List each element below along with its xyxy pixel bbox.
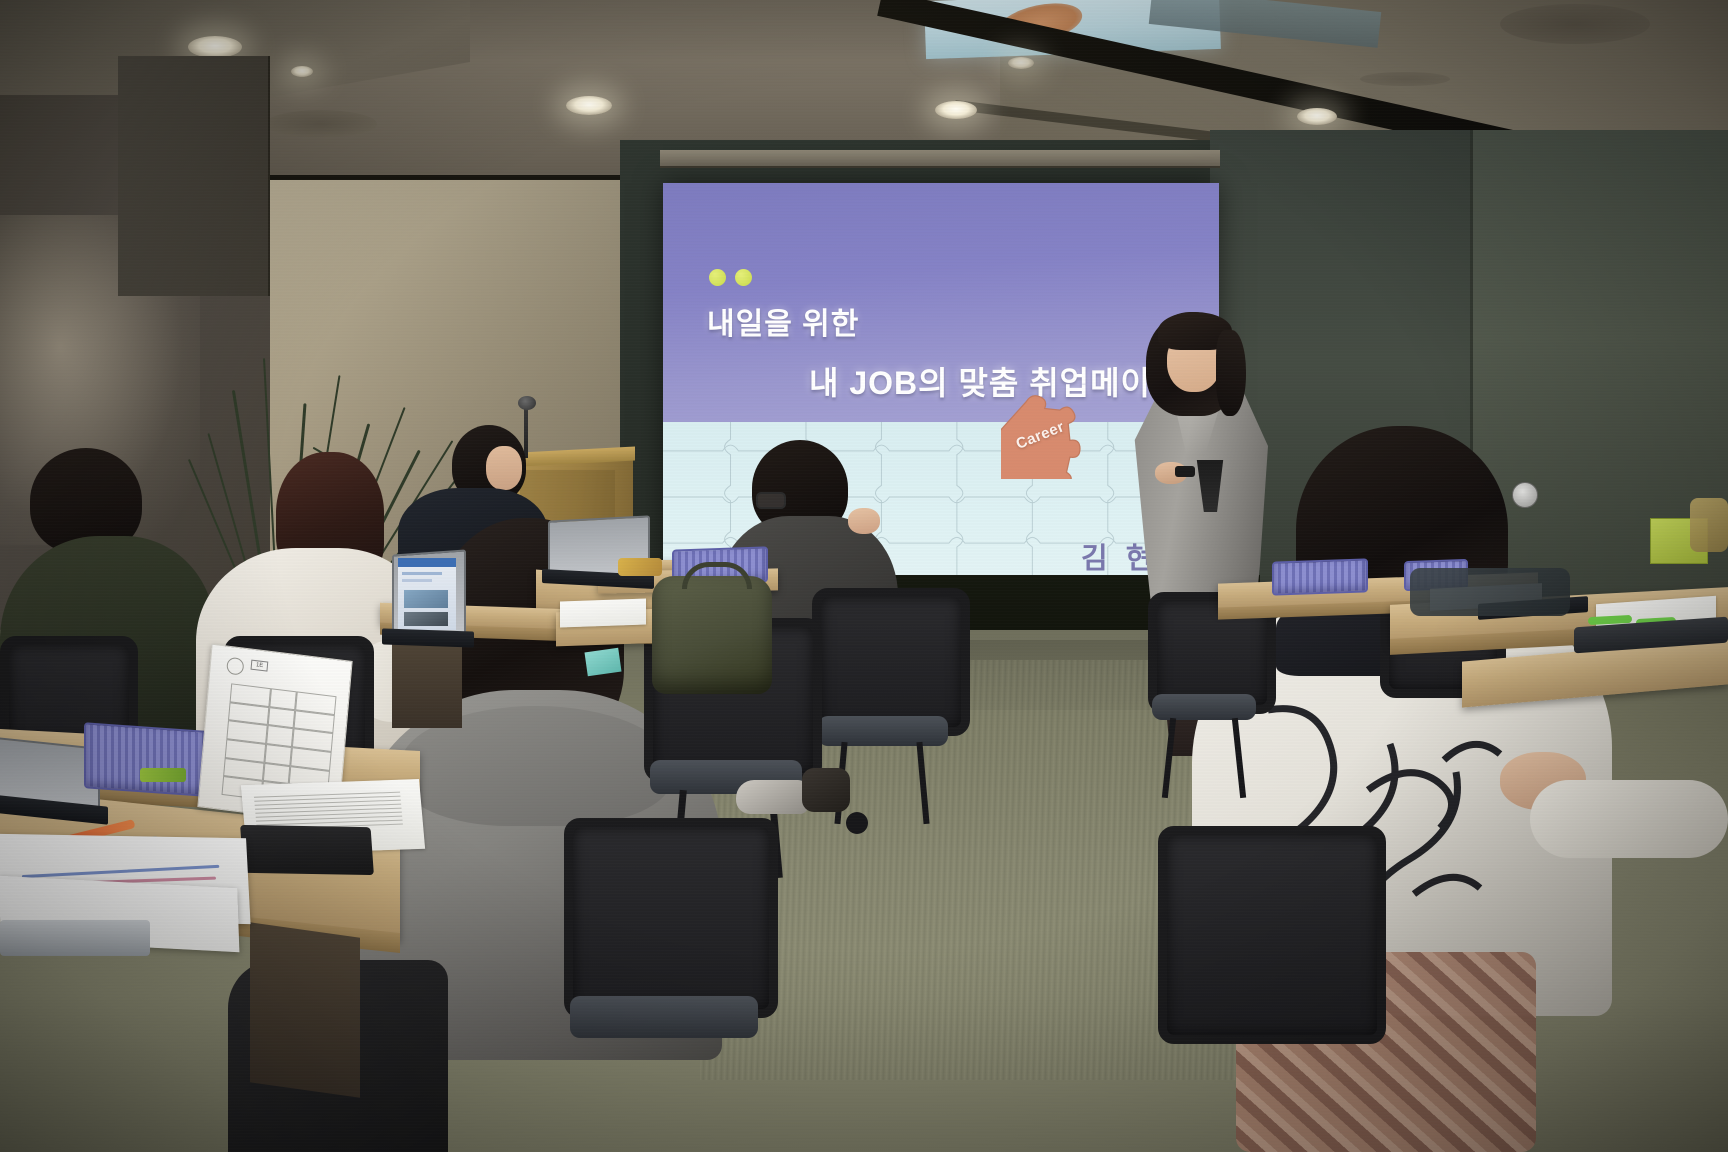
dark-bag — [1410, 568, 1570, 616]
chair-seat[interactable] — [1152, 694, 1256, 720]
attendee-forearm — [1530, 780, 1728, 858]
slide-title-line-1: 내일을 위한 — [707, 299, 859, 343]
handout-badge: 1E — [251, 660, 269, 672]
microphone-icon — [518, 396, 536, 410]
laptop-keyboard[interactable] — [382, 628, 474, 647]
downlight-icon — [1008, 57, 1034, 69]
slide-bullet-dot-icon — [709, 269, 726, 286]
mousepad[interactable] — [240, 825, 374, 875]
chair-seat[interactable] — [570, 996, 758, 1038]
chair-caster — [846, 812, 868, 834]
ceiling-vent — [1500, 4, 1650, 44]
presentation-clicker — [1175, 466, 1195, 477]
backpack[interactable] — [652, 576, 772, 694]
shoe — [802, 768, 850, 812]
downlight-icon — [1297, 108, 1337, 125]
projector-screen-housing — [660, 150, 1220, 168]
bag-bundle — [1690, 498, 1728, 552]
photo-scene: 내일을 위한 내 JOB의 맞춤 취업메이킹 Career 김 현 — [0, 0, 1728, 1152]
chair-backrest[interactable] — [564, 818, 778, 1018]
storage-basket[interactable] — [1272, 558, 1368, 595]
downlight-icon — [935, 101, 977, 119]
desk-leg-panel — [250, 922, 360, 1097]
chair-seat[interactable] — [818, 716, 948, 746]
presenter-hair-side — [1216, 330, 1246, 416]
chair-backrest[interactable] — [812, 588, 970, 736]
downlight-icon — [291, 66, 313, 77]
sticky-note — [584, 648, 621, 676]
slide-title-line-2: 내 JOB의 맞춤 취업메이킹 — [809, 358, 1181, 404]
basket-label — [140, 768, 186, 782]
attendee-hand — [848, 508, 880, 534]
desk-leg-panel — [392, 640, 462, 728]
downlight-icon — [188, 36, 242, 58]
folder-stripe — [22, 865, 220, 878]
shoe — [736, 780, 808, 814]
chair-backrest[interactable] — [1158, 826, 1386, 1044]
wall-clock-icon — [1512, 482, 1538, 508]
glasses-icon — [756, 492, 786, 509]
ceiling-vent — [1360, 72, 1450, 86]
ceiling-vent — [265, 110, 377, 138]
laptop-closed[interactable] — [0, 920, 150, 956]
downlight-icon — [566, 96, 612, 115]
laptop-display — [398, 558, 456, 630]
paper-stack[interactable] — [560, 598, 646, 627]
handout-logo-icon — [226, 657, 244, 676]
attendee-face — [486, 446, 522, 490]
snack-pack — [618, 558, 662, 576]
wall-cabinet — [118, 56, 270, 296]
slide-bullet-dot-icon — [735, 269, 752, 286]
